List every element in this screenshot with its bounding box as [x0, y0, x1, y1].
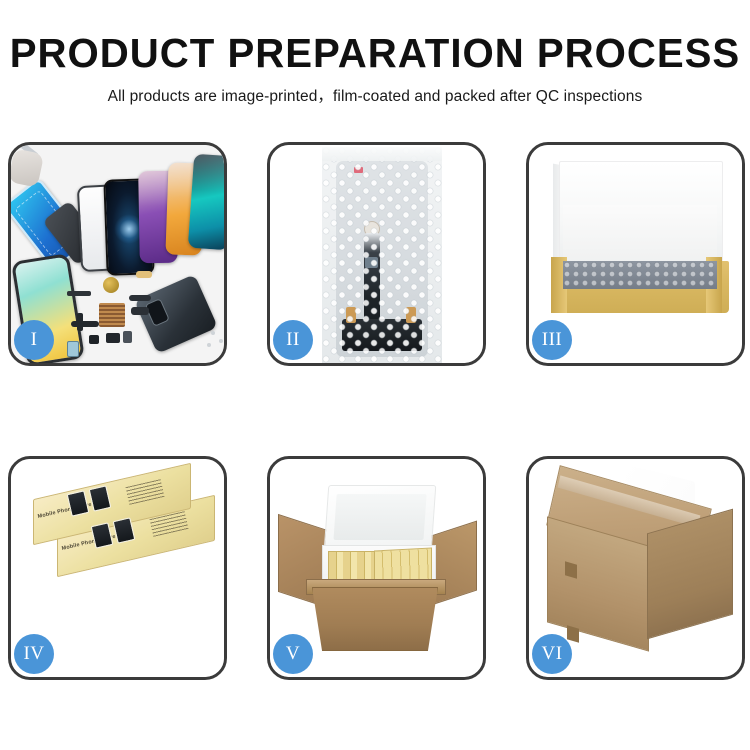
- step-panel-2[interactable]: II: [267, 142, 486, 366]
- part-connector-bar: [67, 291, 91, 296]
- part-power-button-flex: [136, 271, 152, 278]
- process-row-bottom: Mobile Phone Spare Parts Mobile Phone Sp…: [8, 456, 745, 680]
- part-flex-cable-3: [129, 295, 151, 301]
- step-badge-3: III: [532, 320, 572, 360]
- step-badge-4: IV: [14, 634, 54, 674]
- part-flex-cable-1: [71, 321, 99, 327]
- bubble-texture: [322, 147, 442, 363]
- page-subtitle: All products are image-printed，film-coat…: [0, 84, 750, 106]
- step-badge-2: II: [273, 320, 313, 360]
- carton-handle-tab-bottom: [567, 625, 579, 642]
- step-badge-5: V: [273, 634, 313, 674]
- process-row-top: I II: [8, 142, 745, 366]
- part-chip: [123, 331, 132, 343]
- page-title: PRODUCT PREPARATION PROCESS: [8, 32, 743, 75]
- box-foam-sheet: [563, 205, 717, 263]
- phone-screen-teal: [188, 154, 224, 251]
- part-screw-3: [207, 343, 211, 347]
- step-badge-6: VI: [532, 634, 572, 674]
- box-layer-left-1: [11, 459, 135, 473]
- step-panel-6[interactable]: VI: [526, 456, 745, 680]
- step-panel-4[interactable]: Mobile Phone Spare Parts Mobile Phone Sp…: [8, 456, 227, 680]
- part-speaker: [106, 333, 120, 343]
- part-wireless-coil: [103, 277, 119, 293]
- box-layer-left-3: [11, 459, 135, 473]
- part-sim-tray: [67, 341, 79, 357]
- bag-seal-strip: [322, 147, 442, 161]
- part-screw-1: [211, 331, 215, 335]
- carton-body: [312, 587, 438, 651]
- process-steps-grid: I II: [8, 142, 745, 680]
- tray-bubble-wrap-fill: [563, 261, 717, 289]
- box-layer-left-2: [11, 459, 135, 473]
- part-earpiece: [89, 335, 99, 344]
- part-flex-cable-2: [77, 313, 83, 331]
- foam-box-lid: [324, 485, 437, 551]
- part-copper-shield: [99, 303, 125, 327]
- bubble-wrap-bag: [322, 147, 442, 363]
- step-badge-1: I: [14, 320, 54, 360]
- step-panel-5[interactable]: V: [267, 456, 486, 680]
- page-header: PRODUCT PREPARATION PROCESS All products…: [0, 0, 750, 106]
- part-flex-cable-4: [131, 307, 149, 315]
- part-screw-2: [219, 339, 223, 343]
- step-panel-3[interactable]: III: [526, 142, 745, 366]
- step-panel-1[interactable]: I: [8, 142, 227, 366]
